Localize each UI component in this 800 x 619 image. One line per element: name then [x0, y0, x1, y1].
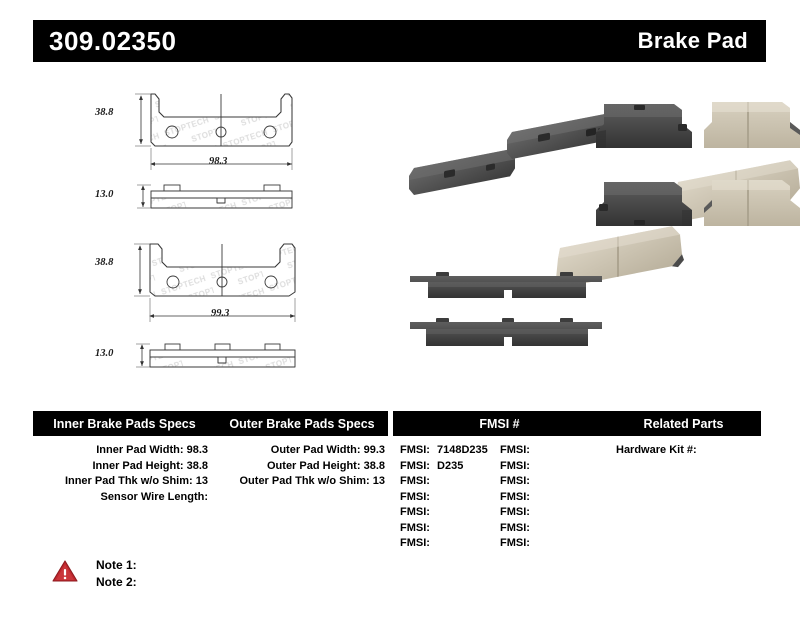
fmsi-row: FMSI: [500, 536, 600, 552]
fmsi-label: FMSI: [400, 474, 430, 490]
fmsi-row: FMSI: [500, 459, 600, 475]
fmsi-row: FMSI: [400, 505, 500, 521]
fmsi-label: FMSI: [500, 443, 530, 459]
fmsi-value [530, 460, 534, 472]
fmsi-subcolumn-right: FMSI: FMSI: FMSI: FMSI: [500, 443, 600, 552]
header-inner-specs: Inner Brake Pads Specs [33, 411, 216, 436]
fmsi-row: FMSI: [500, 443, 600, 459]
part-number: 309.02350 [49, 28, 176, 54]
inner-specs-column: Inner Pad Width: 98.3 Inner Pad Height: … [33, 443, 216, 552]
spec-value: 98.3 [187, 444, 208, 456]
spec-label: Outer Pad Height: [267, 460, 361, 472]
inner-pad-height-label: 38.8 [95, 107, 113, 118]
fmsi-value [430, 522, 434, 534]
fmsi-value [530, 491, 534, 503]
fmsi-label: FMSI: [500, 521, 530, 537]
drawing-canvas: STOPTECH STOPTECH [33, 72, 399, 392]
header-related-parts: Related Parts [606, 411, 761, 436]
outer-specs-column: Outer Pad Width: 99.3 Outer Pad Height: … [216, 443, 393, 552]
spec-row: Inner Pad Thk w/o Shim: 13 [33, 474, 216, 490]
outer-pad-thickness-label: 13.0 [95, 348, 113, 359]
spec-label: Inner Pad Width: [96, 444, 183, 456]
spec-table-header-row: Inner Brake Pads Specs Outer Brake Pads … [33, 411, 766, 436]
spec-row: Inner Pad Width: 98.3 [33, 443, 216, 459]
inner-pad-thickness-label: 13.0 [95, 189, 113, 200]
fmsi-value [430, 475, 434, 487]
spec-row: Outer Pad Height: 38.8 [216, 459, 393, 475]
inner-pad-thickness-dimension [137, 185, 151, 208]
spec-value: 13 [373, 475, 385, 487]
header-bar: 309.02350 Brake Pad [33, 20, 766, 62]
fmsi-value [530, 537, 534, 549]
header-outer-specs: Outer Brake Pads Specs [216, 411, 388, 436]
warning-triangle-icon [52, 559, 78, 583]
fmsi-value [430, 537, 434, 549]
product-type: Brake Pad [638, 30, 748, 52]
spec-label: Outer Pad Width: [271, 444, 361, 456]
fmsi-value [530, 522, 534, 534]
fmsi-label: FMSI: [500, 459, 530, 475]
note-line-1: Note 1: [96, 557, 137, 574]
fmsi-value [530, 475, 534, 487]
spec-row: Sensor Wire Length: [33, 490, 216, 506]
fmsi-row: FMSI: [400, 490, 500, 506]
fmsi-subcolumn-left: FMSI: 7148D235 FMSI: D235 FMSI: FMSI: [400, 443, 500, 552]
technical-drawings: STOPTECH STOPTECH [33, 72, 399, 392]
fmsi-row: FMSI: [500, 505, 600, 521]
fmsi-row: FMSI: [500, 490, 600, 506]
fmsi-value [430, 506, 434, 518]
spec-value: 99.3 [364, 444, 385, 456]
fmsi-row: FMSI: 7148D235 [400, 443, 500, 459]
spec-value: 13 [196, 475, 208, 487]
fmsi-label: FMSI: [400, 521, 430, 537]
fmsi-value [530, 444, 534, 456]
fmsi-value: 7148D235 [433, 444, 488, 456]
inner-pad-height-dimension [135, 94, 151, 146]
spec-label: Sensor Wire Length: [101, 491, 208, 503]
spec-table-body: Inner Pad Width: 98.3 Inner Pad Height: … [33, 436, 766, 552]
fmsi-label: FMSI: [400, 443, 430, 459]
fmsi-value: D235 [433, 460, 463, 472]
fmsi-row: FMSI: D235 [400, 459, 500, 475]
fmsi-value [430, 491, 434, 503]
fmsi-label: FMSI: [400, 459, 430, 475]
fmsi-label: FMSI: [400, 536, 430, 552]
spec-label: Outer Pad Thk w/o Shim: [240, 475, 370, 487]
spec-row: Outer Pad Width: 99.3 [216, 443, 393, 459]
fmsi-row: FMSI: [400, 521, 500, 537]
outer-pad-edge-drawing [150, 344, 295, 367]
fmsi-row: FMSI: [500, 474, 600, 490]
spec-row: Inner Pad Height: 38.8 [33, 459, 216, 475]
inner-pad-face-drawing [151, 94, 292, 146]
fmsi-label: FMSI: [500, 490, 530, 506]
spec-sheet: 309.02350 Brake Pad STOPTECH STOPTECH [0, 0, 800, 619]
spec-value: 38.8 [187, 460, 208, 472]
fmsi-label: FMSI: [500, 474, 530, 490]
spec-value: 38.8 [364, 460, 385, 472]
inner-pad-width-label: 98.3 [209, 156, 227, 167]
fmsi-value [530, 506, 534, 518]
outer-pad-face-drawing [150, 244, 295, 296]
header-fmsi: FMSI # [393, 411, 606, 436]
edge-view-pads-photo [410, 272, 602, 346]
note-lines: Note 1: Note 2: [96, 557, 137, 591]
fmsi-label: FMSI: [500, 536, 530, 552]
outer-pad-height-label: 38.8 [95, 257, 113, 268]
photo-canvas [400, 72, 766, 372]
fmsi-row: FMSI: [500, 521, 600, 537]
notes-section: Note 1: Note 2: [52, 557, 137, 591]
related-part-row: Hardware Kit #: [606, 443, 761, 459]
spec-row: Outer Pad Thk w/o Shim: 13 [216, 474, 393, 490]
outer-pad-thickness-dimension [136, 344, 150, 367]
fmsi-label: FMSI: [500, 505, 530, 521]
fmsi-row: FMSI: [400, 536, 500, 552]
note-line-2: Note 2: [96, 574, 137, 591]
spec-table: Inner Brake Pads Specs Outer Brake Pads … [33, 411, 766, 552]
product-photos [400, 72, 766, 372]
related-parts-column: Hardware Kit #: [606, 443, 761, 552]
spec-label: Inner Pad Thk w/o Shim: [65, 475, 193, 487]
outer-pad-height-dimension [134, 244, 150, 296]
spec-label: Inner Pad Height: [92, 460, 183, 472]
fmsi-label: FMSI: [400, 505, 430, 521]
fmsi-row: FMSI: [400, 474, 500, 490]
fmsi-column: FMSI: 7148D235 FMSI: D235 FMSI: FMSI: [393, 443, 606, 552]
fmsi-label: FMSI: [400, 490, 430, 506]
outer-pad-width-label: 99.3 [211, 308, 229, 319]
related-part-label: Hardware Kit #: [616, 444, 697, 456]
inner-pad-edge-drawing [151, 185, 292, 208]
